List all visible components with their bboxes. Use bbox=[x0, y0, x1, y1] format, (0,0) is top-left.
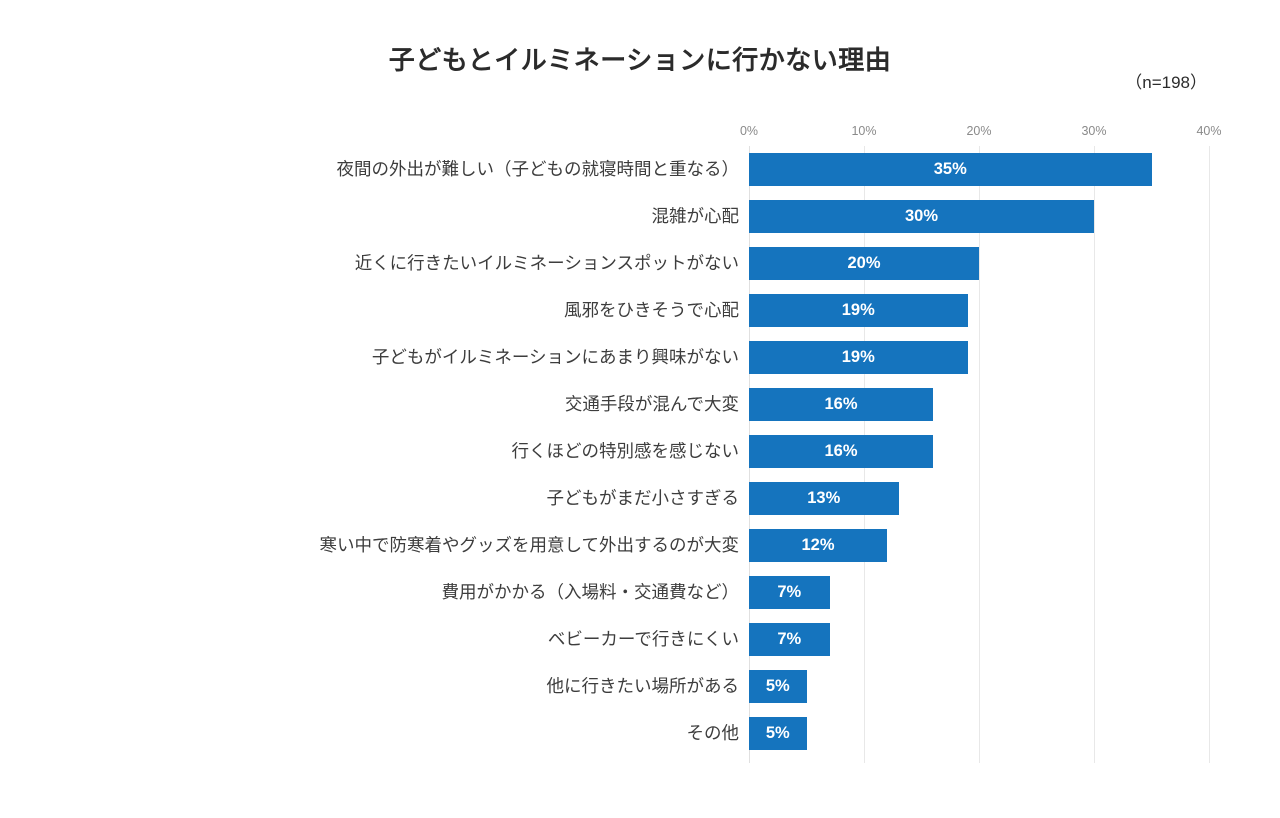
chart-title: 子どもとイルミネーションに行かない理由 bbox=[0, 40, 1280, 77]
category-label: 行くほどの特別感を感じない bbox=[512, 428, 740, 475]
category-label: その他 bbox=[687, 710, 740, 757]
bar bbox=[749, 435, 933, 468]
bar-row: 近くに行きたいイルミネーションスポットがない20% bbox=[0, 240, 1280, 287]
bar-row: ベビーカーで行きにくい7% bbox=[0, 616, 1280, 663]
category-label: 夜間の外出が難しい（子どもの就寝時間と重なる） bbox=[337, 146, 740, 193]
bar-row: 子どもがまだ小さすぎる13% bbox=[0, 475, 1280, 522]
x-tick-label: 10% bbox=[851, 124, 876, 138]
bar bbox=[749, 153, 1152, 186]
bar bbox=[749, 388, 933, 421]
x-tick-label: 30% bbox=[1081, 124, 1106, 138]
bar-row: 寒い中で防寒着やグッズを用意して外出するのが大変12% bbox=[0, 522, 1280, 569]
bar bbox=[749, 529, 887, 562]
bar-row: 行くほどの特別感を感じない16% bbox=[0, 428, 1280, 475]
category-label: 交通手段が混んで大変 bbox=[565, 381, 739, 428]
category-label: 寒い中で防寒着やグッズを用意して外出するのが大変 bbox=[320, 522, 739, 569]
bar bbox=[749, 247, 979, 280]
bar-row: 夜間の外出が難しい（子どもの就寝時間と重なる）35% bbox=[0, 146, 1280, 193]
bar bbox=[749, 341, 968, 374]
category-label: 近くに行きたいイルミネーションスポットがない bbox=[355, 240, 739, 287]
category-label: 混雑が心配 bbox=[652, 193, 740, 240]
category-label: 子どもがイルミネーションにあまり興味がない bbox=[372, 334, 739, 381]
category-label: 他に行きたい場所がある bbox=[547, 663, 740, 710]
chart-plot-area: 夜間の外出が難しい（子どもの就寝時間と重なる）35%混雑が心配30%近くに行きた… bbox=[0, 146, 1280, 763]
bar bbox=[749, 717, 807, 750]
bar bbox=[749, 623, 830, 656]
bar-row: 費用がかかる（入場料・交通費など）7% bbox=[0, 569, 1280, 616]
bar-row: 子どもがイルミネーションにあまり興味がない19% bbox=[0, 334, 1280, 381]
category-label: ベビーカーで行きにくい bbox=[548, 616, 739, 663]
bar-row: 風邪をひきそうで心配19% bbox=[0, 287, 1280, 334]
category-label: 子どもがまだ小さすぎる bbox=[547, 475, 740, 522]
x-tick-label: 20% bbox=[966, 124, 991, 138]
category-label: 風邪をひきそうで心配 bbox=[564, 287, 739, 334]
x-tick-label: 0% bbox=[740, 124, 758, 138]
bar bbox=[749, 482, 899, 515]
x-tick-label: 40% bbox=[1196, 124, 1221, 138]
bar-row: 混雑が心配30% bbox=[0, 193, 1280, 240]
bar-row: 交通手段が混んで大変16% bbox=[0, 381, 1280, 428]
bar bbox=[749, 200, 1094, 233]
x-axis-ticks: 0%10%20%30%40% bbox=[0, 124, 1280, 142]
bar bbox=[749, 670, 807, 703]
category-label: 費用がかかる（入場料・交通費など） bbox=[442, 569, 740, 616]
bar-row: 他に行きたい場所がある5% bbox=[0, 663, 1280, 710]
chart-sample-size: （n=198） bbox=[1125, 68, 1207, 93]
bar-row: その他5% bbox=[0, 710, 1280, 757]
bar bbox=[749, 294, 968, 327]
bar-chart: 子どもとイルミネーションに行かない理由 （n=198） 0%10%20%30%4… bbox=[0, 0, 1280, 818]
bar bbox=[749, 576, 830, 609]
